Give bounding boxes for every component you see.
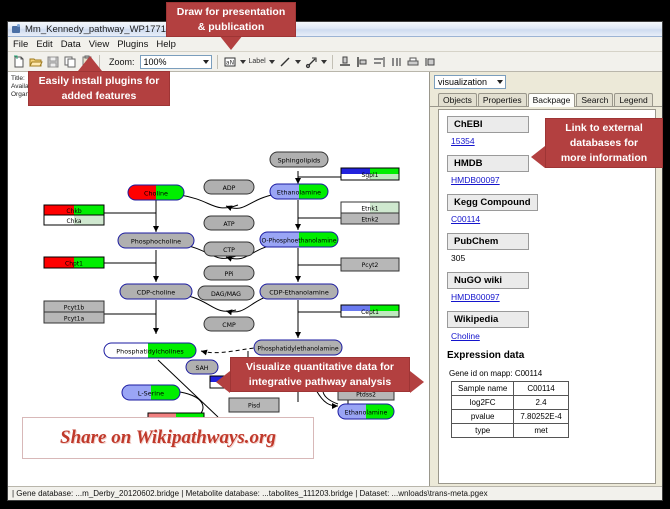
menu-view[interactable]: View <box>89 39 109 50</box>
visualization-combo[interactable]: visualization <box>434 75 506 89</box>
db-link-hmdb[interactable]: HMDB00097 <box>451 175 647 185</box>
callout-draw-arrow-icon <box>219 35 243 50</box>
gene-etnk1: Etnk1 <box>341 202 399 213</box>
svg-text:Sphingolipids: Sphingolipids <box>278 157 321 165</box>
svg-text:L-Serine: L-Serine <box>138 390 164 398</box>
datanode-dropdown[interactable] <box>240 60 246 64</box>
chevron-down-icon <box>295 60 301 64</box>
node-sah: SAH <box>186 360 218 374</box>
callout-plugins-line2: added features <box>29 90 169 105</box>
callout-share-text: Share on Wikipathways.org <box>60 427 276 449</box>
side-panel-tabs: Objects Properties Backpage Search Legen… <box>430 92 662 107</box>
db-link-wikipedia[interactable]: Choline <box>451 331 647 341</box>
gene-chka: Chka <box>44 215 104 225</box>
chevron-down-icon <box>321 60 327 64</box>
table-row: log2FC 2.4 <box>452 396 569 410</box>
tab-objects[interactable]: Objects <box>438 93 477 106</box>
node-ethanolamine-top: Ethanolamine <box>270 184 328 199</box>
svg-text:Phosphatidylcholines: Phosphatidylcholines <box>116 348 184 356</box>
node-cmp: CMP <box>204 317 254 331</box>
gene-etnk2: Etnk2 <box>341 213 399 224</box>
svg-text:PPi: PPi <box>224 271 233 278</box>
chevron-down-icon <box>240 60 246 64</box>
datanode-icon[interactable]: aN <box>223 55 237 69</box>
node-atp: ATP <box>204 216 254 230</box>
svg-text:Pcyt1a: Pcyt1a <box>64 316 85 323</box>
callout-draw-line1: Draw for presentation <box>167 3 295 21</box>
callout-draw-line2: & publication <box>167 21 295 36</box>
svg-text:Pisd: Pisd <box>248 403 260 410</box>
svg-text:Sgpl1: Sgpl1 <box>362 172 379 179</box>
gene-pcyt1a: Pcyt1a <box>44 312 104 323</box>
table-cell-value: met <box>514 424 568 438</box>
gene-chkb: Chkb <box>44 205 104 215</box>
svg-text:CDP-Ethanolamine: CDP-Ethanolamine <box>269 289 329 297</box>
svg-text:O-Phosphoethanolamine: O-Phosphoethanolamine <box>261 238 336 245</box>
svg-text:ADP: ADP <box>223 185 236 192</box>
label-dropdown-text: Label <box>249 58 266 65</box>
node-dagmag: DAG/MAG <box>198 286 254 300</box>
common-height-icon[interactable] <box>423 55 437 69</box>
zoom-label: Zoom: <box>109 57 135 67</box>
status-bar: | Gene database: ...m_Derby_20120602.bri… <box>8 486 662 500</box>
title-bar: Mm_Kennedy_pathway_WP1771_45176.gpml <box>8 22 662 37</box>
tab-properties[interactable]: Properties <box>478 93 527 106</box>
table-cell-key: log2FC <box>452 396 514 410</box>
callout-links: Link to external databases for more info… <box>545 118 663 168</box>
db-header-wikipedia: Wikipedia <box>447 311 529 328</box>
callout-links-line3: more information <box>546 152 662 167</box>
table-row: type met <box>452 424 569 438</box>
gene-pcyt1b: Pcyt1b <box>44 301 104 312</box>
table-row: Sample name C00114 <box>452 382 569 396</box>
svg-text:Ethanolamine: Ethanolamine <box>345 410 388 417</box>
svg-text:Phosphatidylethanolamine: Phosphatidylethanolamine <box>257 346 338 353</box>
save-file-icon[interactable] <box>46 55 60 69</box>
node-phosphatidylcholines: Phosphatidylcholines <box>104 343 196 358</box>
menu-plugins[interactable]: Plugins <box>117 39 148 50</box>
table-cell-key: pvalue <box>452 410 514 424</box>
node-sphingolipids: Sphingolipids <box>270 152 328 167</box>
expression-table: Sample name C00114 log2FC 2.4 pvalue 7.8… <box>451 381 569 438</box>
chevron-down-icon <box>203 60 209 64</box>
align-rows-icon[interactable] <box>372 55 386 69</box>
svg-text:DAG/MAG: DAG/MAG <box>211 291 241 298</box>
node-phosphatidylethanolamine: Phosphatidylethanolamine <box>254 340 342 355</box>
table-cell-value: 7.80252E-4 <box>514 410 568 424</box>
callout-visualize-arrow-right-icon <box>410 371 424 393</box>
svg-text:CMP: CMP <box>222 322 236 329</box>
table-cell-key: type <box>452 424 514 438</box>
table-cell-value: 2.4 <box>514 396 568 410</box>
pathvisio-icon <box>11 24 21 34</box>
node-o-phosphoethanolamine: O-Phosphoethanolamine <box>260 232 338 247</box>
line-icon[interactable] <box>278 55 292 69</box>
svg-text:Pcyt1b: Pcyt1b <box>64 305 85 312</box>
node-l-serine-left: L-Serine <box>122 385 180 400</box>
callout-plugins: Easily install plugins for added feature… <box>28 71 170 106</box>
common-width-icon[interactable] <box>389 55 403 69</box>
callout-visualize-line1: Visualize quantitative data for <box>231 358 409 376</box>
node-phosphocholine: Phosphocholine <box>118 233 194 248</box>
copy-icon[interactable] <box>63 55 77 69</box>
visualization-bar: visualization <box>430 72 662 92</box>
tab-search[interactable]: Search <box>576 93 613 106</box>
callout-visualize-arrow-left-icon <box>216 371 230 393</box>
line-dropdown[interactable] <box>295 60 301 64</box>
db-link-kegg[interactable]: C00114 <box>451 214 647 224</box>
gene-id-line: Gene id on mapp: C00114 <box>449 369 647 378</box>
svg-text:Chkb: Chkb <box>66 208 81 215</box>
toolbar-separator <box>217 55 218 69</box>
node-cdp-choline: CDP-choline <box>120 284 192 299</box>
svg-text:Etnk2: Etnk2 <box>361 217 378 224</box>
svg-text:Ptdss2: Ptdss2 <box>356 392 376 399</box>
label-dropdown[interactable] <box>269 60 275 64</box>
svg-text:CTP: CTP <box>223 247 235 254</box>
gene-pisd: Pisd <box>229 398 279 412</box>
gene-cept1: Cept1 <box>341 305 399 317</box>
svg-text:Ethanolamine: Ethanolamine <box>277 189 321 197</box>
tab-legend[interactable]: Legend <box>614 93 652 106</box>
menu-data[interactable]: Data <box>61 39 81 50</box>
new-file-icon[interactable] <box>12 55 26 69</box>
svg-text:Chpt1: Chpt1 <box>65 261 83 268</box>
svg-text:Etnk1: Etnk1 <box>361 206 378 213</box>
zoom-combo[interactable]: 100% <box>140 55 212 69</box>
db-link-nugo[interactable]: HMDB00097 <box>451 292 647 302</box>
svg-text:Chka: Chka <box>66 218 81 225</box>
status-text: | Gene database: ...m_Derby_20120602.bri… <box>12 489 488 498</box>
db-header-kegg: Kegg Compound <box>447 194 538 211</box>
zoom-value: 100% <box>144 57 167 67</box>
interaction-dropdown[interactable] <box>321 60 327 64</box>
node-adp: ADP <box>204 180 254 194</box>
callout-visualize: Visualize quantitative data for integrat… <box>230 357 410 392</box>
menu-edit[interactable]: Edit <box>36 39 52 50</box>
svg-text:CDP-choline: CDP-choline <box>137 289 175 297</box>
open-file-icon[interactable] <box>29 55 43 69</box>
gene-chpt1: Chpt1 <box>44 257 104 268</box>
callout-plugins-line1: Easily install plugins for <box>29 72 169 90</box>
db-value-pubchem: 305 <box>451 253 647 263</box>
svg-text:SAH: SAH <box>196 365 209 372</box>
callout-links-line1: Link to external <box>546 119 662 137</box>
table-cell-value: C00114 <box>514 382 568 396</box>
toolbar-separator <box>332 55 333 69</box>
node-ppi: PPi <box>204 266 254 280</box>
svg-text:Cept1: Cept1 <box>361 309 379 316</box>
node-ethanolamine-bottom: Ethanolamine <box>338 404 394 419</box>
align-left-icon[interactable] <box>355 55 369 69</box>
node-ctp: CTP <box>204 242 254 256</box>
callout-links-arrow-icon <box>531 146 545 168</box>
db-header-nugo: NuGO wiki <box>447 272 529 289</box>
menu-file[interactable]: File <box>13 39 28 50</box>
gene-pcyt2: Pcyt2 <box>341 258 399 271</box>
gene-sgpl1: Sgpl1 <box>341 168 399 180</box>
db-header-chebi: ChEBI <box>447 116 529 133</box>
callout-links-line2: databases for <box>546 137 662 152</box>
print-icon[interactable] <box>406 55 420 69</box>
svg-text:Phosphocholine: Phosphocholine <box>131 238 181 246</box>
visualization-value: visualization <box>438 77 487 87</box>
table-row: pvalue 7.80252E-4 <box>452 410 569 424</box>
svg-text:ATP: ATP <box>223 221 235 228</box>
node-cdp-ethanolamine: CDP-Ethanolamine <box>260 284 338 299</box>
node-choline-top: Choline <box>128 185 184 200</box>
callout-share: Share on Wikipathways.org <box>22 417 314 459</box>
expression-data-title: Expression data <box>447 350 647 361</box>
menu-bar: File Edit Data View Plugins Help <box>8 37 662 52</box>
tab-backpage[interactable]: Backpage <box>528 93 576 107</box>
db-header-hmdb: HMDB <box>447 155 529 172</box>
chevron-down-icon <box>497 80 503 84</box>
table-cell-key: Sample name <box>452 382 514 396</box>
callout-plugins-arrow-icon <box>78 56 102 71</box>
align-bottom-icon[interactable] <box>338 55 352 69</box>
svg-text:Pcyt2: Pcyt2 <box>362 262 379 269</box>
interaction-icon[interactable] <box>304 55 318 69</box>
chevron-down-icon <box>269 60 275 64</box>
svg-text:aN: aN <box>225 59 233 66</box>
callout-draw: Draw for presentation & publication <box>166 2 296 37</box>
db-header-pubchem: PubChem <box>447 233 529 250</box>
tool-bar: Zoom: 100% aN Label <box>8 52 662 72</box>
menu-help[interactable]: Help <box>156 39 176 50</box>
callout-visualize-line2: integrative pathway analysis <box>231 376 409 391</box>
svg-text:Choline: Choline <box>144 190 168 198</box>
